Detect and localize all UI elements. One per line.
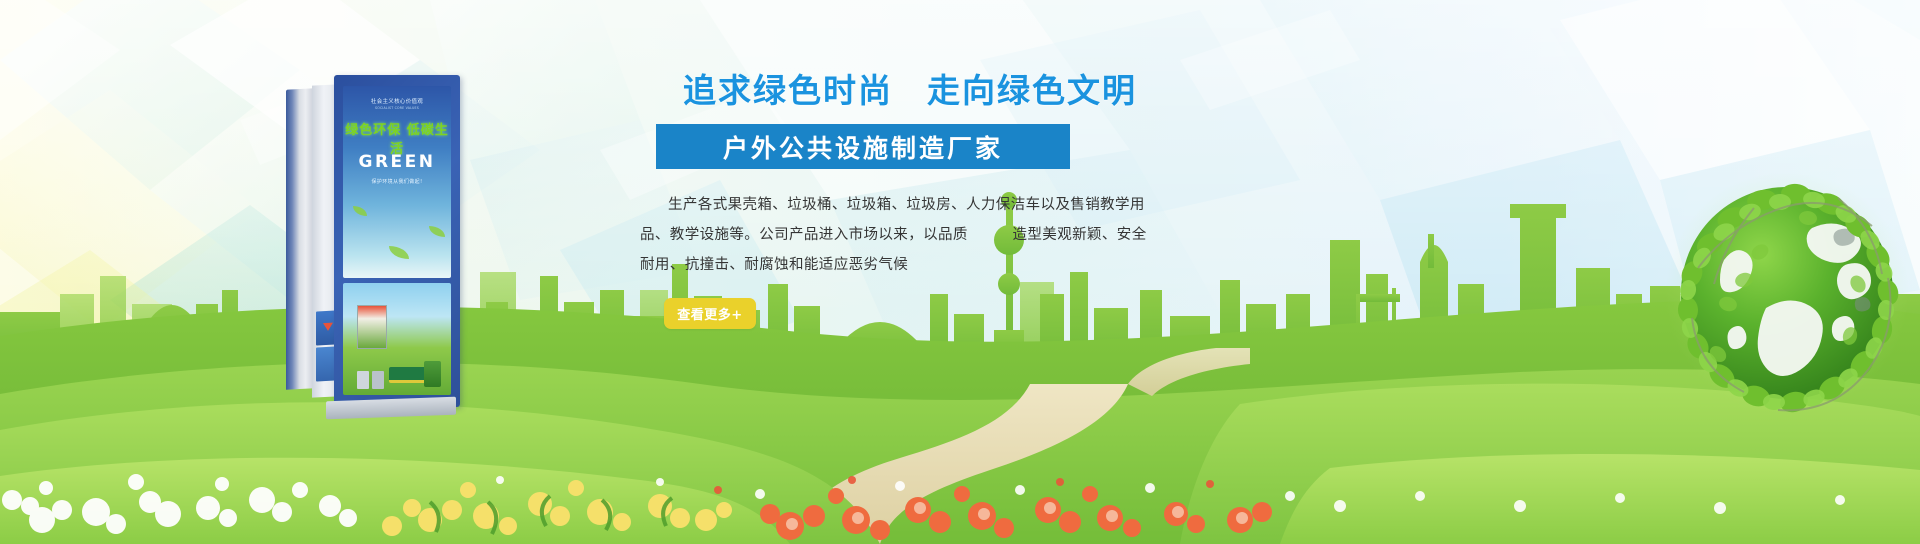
outdoor-lightbox-kiosk: 社会主义核心价值观 SOCIALIST CORE VALUES 绿色环保 低碳生… xyxy=(286,75,460,405)
kiosk-slogan: 保护环境从我们做起! xyxy=(343,178,451,185)
leaf-icon xyxy=(353,206,367,216)
green-earth-globe xyxy=(1662,168,1912,418)
description-line-1: 生产各式果壳箱、垃圾桶、垃圾箱、垃圾房、人力保洁车以及售销教学用 xyxy=(640,190,1156,220)
kiosk-poster-thumb xyxy=(357,305,387,349)
kiosk-body: 社会主义核心价值观 SOCIALIST CORE VALUES 绿色环保 低碳生… xyxy=(334,75,460,407)
headline-left: 追求绿色时尚 xyxy=(683,71,893,110)
headline-right: 走向绿色文明 xyxy=(927,71,1137,110)
hero-headline: 追求绿色时尚走向绿色文明 xyxy=(640,70,1180,111)
hero-banner: 社会主义核心价值观 SOCIALIST CORE VALUES 绿色环保 低碳生… xyxy=(0,0,1920,544)
down-arrow-icon xyxy=(323,323,333,332)
hero-description: 生产各式果壳箱、垃圾桶、垃圾箱、垃圾房、人力保洁车以及售销教学用 品、教学设施等… xyxy=(640,190,1156,280)
leaf-icon xyxy=(389,246,409,259)
kiosk-header-cn: 社会主义核心价值观 xyxy=(343,97,451,105)
view-more-button-label: 查看更多+ xyxy=(677,304,742,323)
kiosk-green-en: GREEN xyxy=(343,152,451,172)
kiosk-directional-sign-lower xyxy=(316,346,336,381)
view-more-button[interactable]: 查看更多+ xyxy=(664,298,756,329)
hero-text-block: 追求绿色时尚走向绿色文明 户外公共设施制造厂家 生产各式果壳箱、垃圾桶、垃圾箱、… xyxy=(640,70,1180,329)
hero-subtitle-bar: 户外公共设施制造厂家 xyxy=(656,124,1070,169)
kiosk-directional-sign-upper xyxy=(316,310,336,345)
kiosk-upper-poster: 社会主义核心价值观 SOCIALIST CORE VALUES 绿色环保 低碳生… xyxy=(343,86,451,278)
trash-bin-icon xyxy=(357,371,369,389)
kiosk-side-panel-left xyxy=(286,88,314,389)
kiosk-header-sub: SOCIALIST CORE VALUES xyxy=(343,106,451,110)
leaf-icon xyxy=(429,226,445,237)
description-line-3: 耐用、抗撞击、耐腐蚀和能适应恶劣气候 xyxy=(640,250,1156,280)
description-line-2: 品、教学设施等。公司产品进入市场以来，以品质 造型美观新颖、安全 xyxy=(640,220,1156,250)
trash-bin-icon xyxy=(372,371,384,389)
hero-subtitle-text: 户外公共设施制造厂家 xyxy=(723,129,1003,165)
kiosk-lower-poster xyxy=(343,283,451,395)
green-trash-bin-icon xyxy=(424,361,441,387)
